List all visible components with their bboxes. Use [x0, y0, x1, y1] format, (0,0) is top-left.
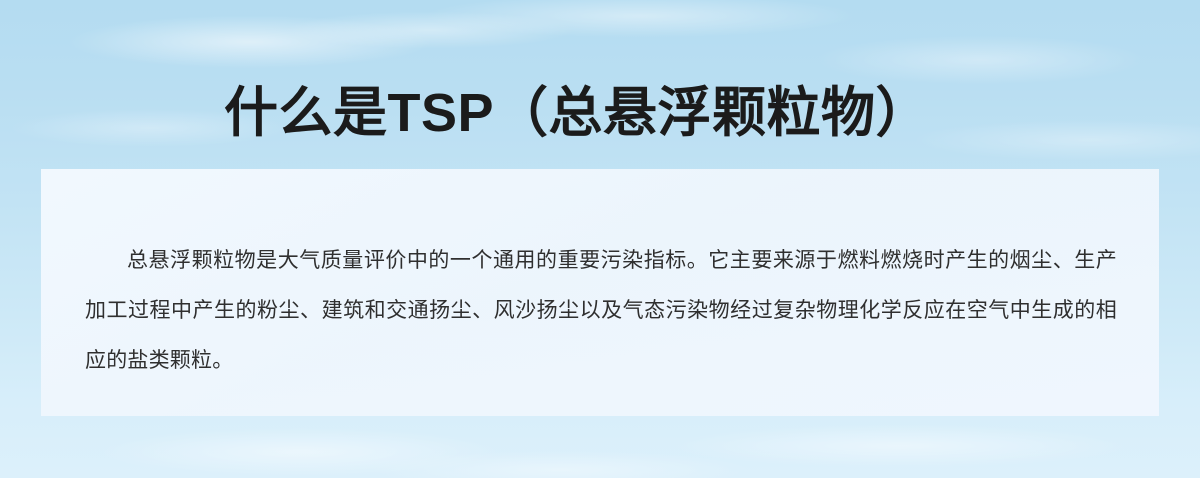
page-title: 什么是TSP（总悬浮颗粒物） [0, 83, 1154, 143]
content-panel: 总悬浮颗粒物是大气质量评价中的一个通用的重要污染指标。它主要来源于燃料燃烧时产生… [41, 169, 1159, 416]
content-paragraph: 总悬浮颗粒物是大气质量评价中的一个通用的重要污染指标。它主要来源于燃料燃烧时产生… [85, 236, 1117, 386]
page-root: 什么是TSP（总悬浮颗粒物） 总悬浮颗粒物是大气质量评价中的一个通用的重要污染指… [0, 0, 1200, 478]
